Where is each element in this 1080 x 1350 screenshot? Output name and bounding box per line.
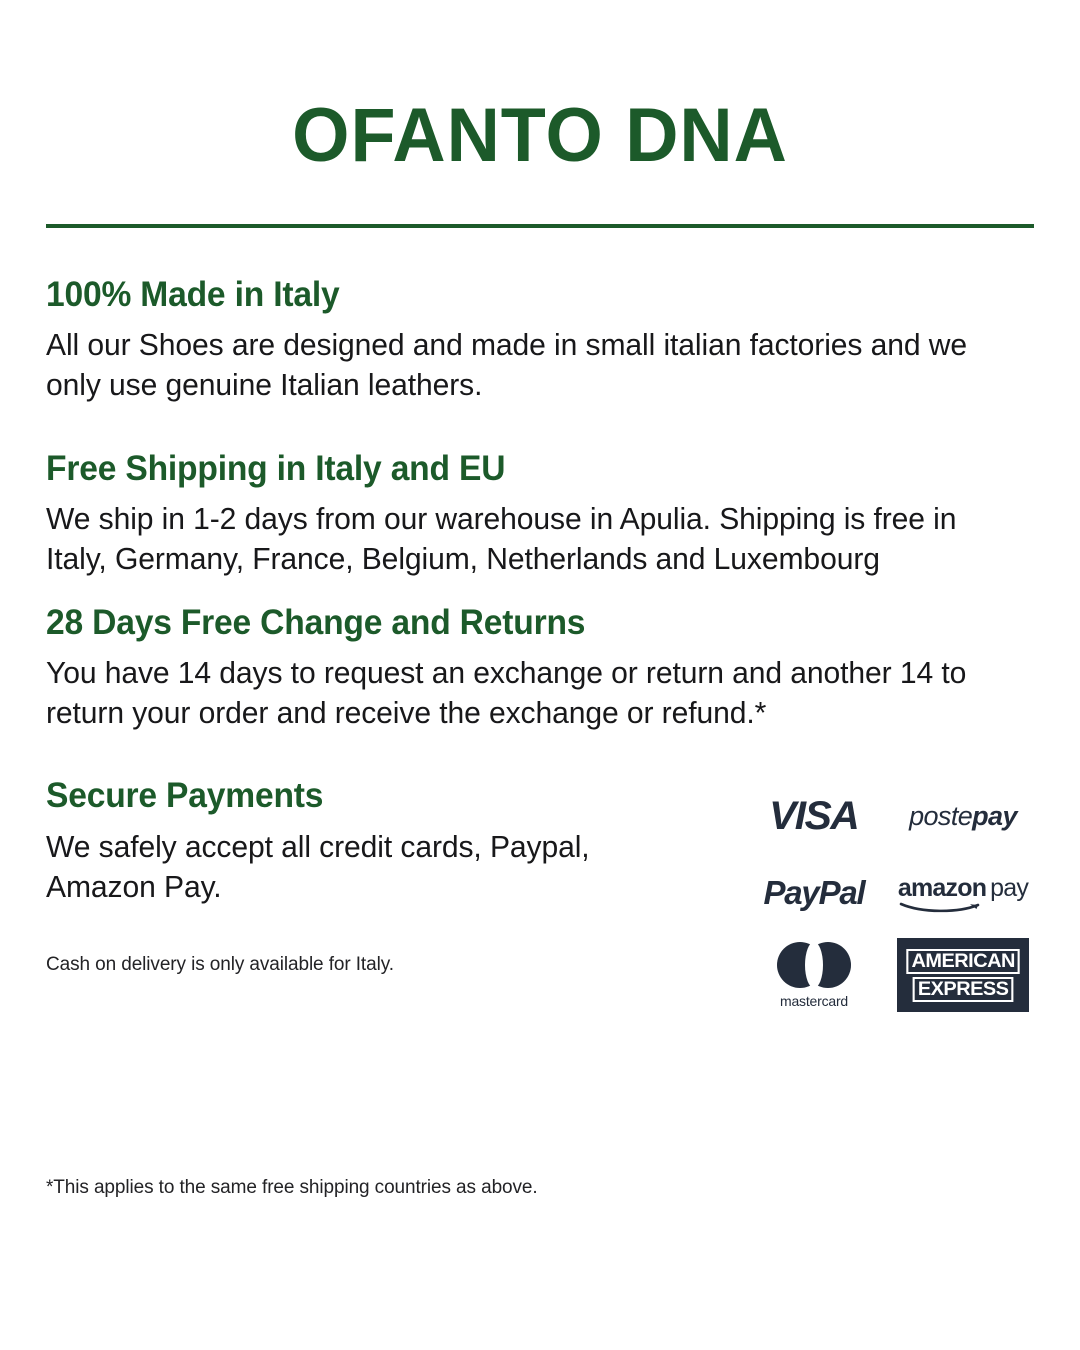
amazon-label-light: pay (990, 874, 1028, 902)
payment-logo-postepay-cell: postepay (893, 781, 1033, 851)
ofanto-dna-page: OFANTO DNA 100% Made in Italy All our Sh… (0, 0, 1080, 1350)
mastercard-overlap-lens (805, 942, 823, 988)
section-secure-payments: Secure Payments We safely accept all cre… (46, 773, 1034, 1015)
amex-label-line2: EXPRESS (912, 977, 1013, 1002)
secure-payments-text: Secure Payments We safely accept all cre… (46, 773, 696, 978)
section-heading-made-in-italy: 100% Made in Italy (46, 274, 994, 315)
amex-label-line1: AMERICAN (906, 949, 1020, 974)
amazon-swoosh-icon (900, 902, 986, 912)
payment-logo-amazon-pay-cell: amazonpay (893, 857, 1033, 929)
section-heading-free-shipping: Free Shipping in Italy and EU (46, 448, 994, 489)
payment-logo-paypal-cell: PayPal (749, 857, 879, 929)
payment-logo-visa-cell: VISA (749, 781, 879, 851)
postepay-label-light: poste (909, 801, 972, 831)
postepay-label-bold: pay (972, 801, 1017, 831)
paypal-icon: PayPal (763, 874, 864, 912)
mastercard-label: mastercard (780, 993, 848, 1009)
cash-on-delivery-note: Cash on delivery is only available for I… (46, 953, 696, 978)
payment-logo-mastercard-cell: mastercard (749, 935, 879, 1015)
title-divider (46, 224, 1034, 228)
section-body-secure-payments: We safely accept all credit cards, Paypa… (46, 827, 677, 908)
content-sections: 100% Made in Italy All our Shoes are des… (46, 274, 1034, 1016)
section-body-free-shipping: We ship in 1-2 days from our warehouse i… (46, 499, 1004, 580)
page-title: OFANTO DNA (61, 96, 1019, 176)
section-free-shipping: Free Shipping in Italy and EU We ship in… (46, 448, 1034, 580)
payment-logos-grid: VISA postepay PayPal amazonpay (749, 773, 1034, 1015)
mastercard-icon: mastercard (777, 942, 851, 1009)
postepay-icon: postepay (909, 801, 1017, 832)
section-heading-change-returns: 28 Days Free Change and Returns (46, 602, 994, 643)
title-block: OFANTO DNA (46, 0, 1034, 228)
mastercard-circles (777, 942, 851, 988)
visa-icon: VISA (769, 794, 858, 839)
section-change-returns: 28 Days Free Change and Returns You have… (46, 602, 1034, 734)
american-express-icon: AMERICAN EXPRESS (897, 938, 1029, 1012)
amazon-pay-icon: amazonpay (898, 874, 1028, 912)
section-body-change-returns: You have 14 days to request an exchange … (46, 653, 1004, 734)
footnote-shipping-countries: *This applies to the same free shipping … (46, 1176, 538, 1201)
section-heading-secure-payments: Secure Payments (46, 775, 670, 816)
payment-logo-american-express-cell: AMERICAN EXPRESS (893, 935, 1033, 1015)
section-body-made-in-italy: All our Shoes are designed and made in s… (46, 325, 1004, 406)
section-made-in-italy: 100% Made in Italy All our Shoes are des… (46, 274, 1034, 406)
amazon-label-bold: amazon (898, 874, 986, 902)
